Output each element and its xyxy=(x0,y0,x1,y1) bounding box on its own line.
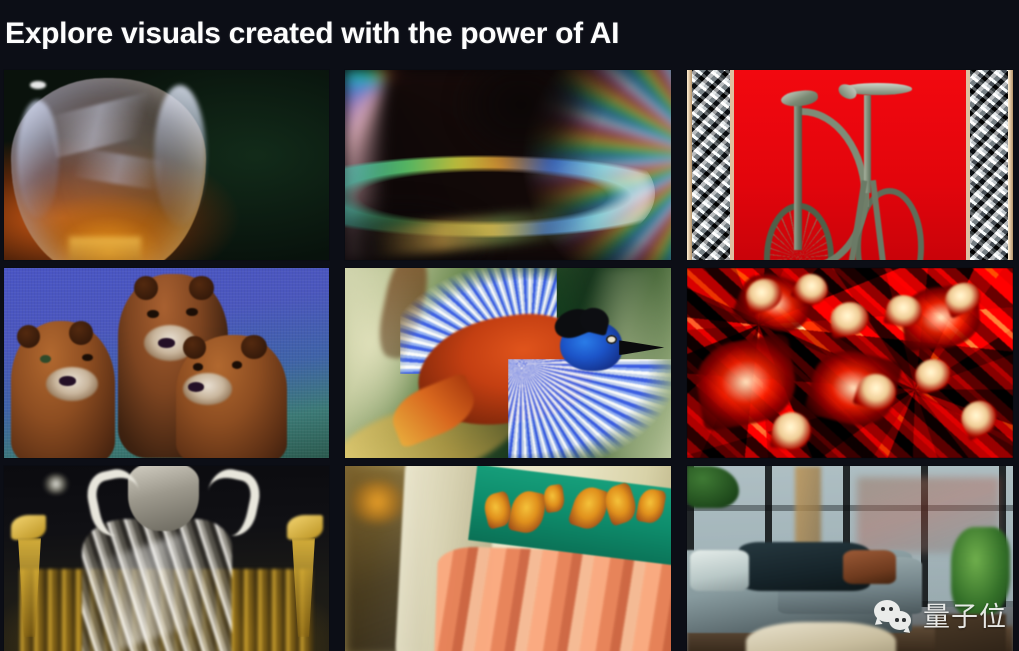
gallery-tile-exotic-bird-fanned-wings[interactable]: Tropical bird with rust-orange body, blu… xyxy=(345,268,671,458)
bear-right-eye-right xyxy=(232,361,242,369)
artwork-border-right xyxy=(966,70,1013,260)
gallery-tile-iridescent-rainbow-refraction[interactable]: Abstract holographic light refraction fa… xyxy=(345,70,671,260)
carpet-boteh-8 xyxy=(769,410,813,453)
gallery-tile-modern-living-room[interactable]: Modern loft living room with a grey-teal… xyxy=(687,466,1013,651)
bicycle-head-tube xyxy=(864,95,871,194)
bird-wing-lower xyxy=(508,359,671,458)
room-side-table xyxy=(935,614,1007,651)
gallery-tile-vintage-bicycle-red-artwork[interactable]: Pale green vintage bicycle centered on a… xyxy=(687,70,1013,260)
gallery-tile-ornate-persian-carpet[interactable]: Close-up of an ornate red and cream Pers… xyxy=(687,268,1013,458)
bear-right-ear-left xyxy=(183,336,206,359)
bicycle-seat-post xyxy=(794,102,802,250)
room-cushion-rust xyxy=(843,550,895,584)
bear-left-eye-left xyxy=(40,355,51,363)
gallery-tile-sequined-gown-on-stage[interactable]: Mannequin in a shimmering silver sequine… xyxy=(4,466,329,651)
room-coffee-table xyxy=(746,622,896,651)
artwork-sequined-gown-on-stage xyxy=(4,466,329,651)
artwork-crystal-glass-amber-liquid xyxy=(4,70,329,260)
artwork-border-left-edge xyxy=(687,70,692,260)
room-plant-right xyxy=(951,527,1010,618)
glass-right-highlight xyxy=(154,85,206,226)
artwork-border-left xyxy=(687,70,734,260)
artwork-iridescent-rainbow-refraction xyxy=(345,70,671,260)
bear-left-eye-right xyxy=(82,354,93,362)
artwork-modern-living-room xyxy=(687,466,1013,651)
gallery-tile-traditional-costume-closeup[interactable]: Detail of traditional dress: a green emb… xyxy=(345,466,671,651)
bear-left-ear-left xyxy=(17,325,40,348)
room-cushion-light xyxy=(690,550,749,592)
bicycle-saddle xyxy=(780,89,819,109)
costume-coral-skirt xyxy=(434,545,671,651)
artwork-three-brown-bears xyxy=(4,268,329,458)
bear-center-eye-left xyxy=(147,310,159,318)
stage-lamp-right xyxy=(287,515,323,540)
carpet-boteh-3 xyxy=(828,300,871,339)
gallery-tile-three-brown-bears[interactable]: Three brown bears grouped together again… xyxy=(4,268,329,458)
page-header: Explore visuals created with the power o… xyxy=(0,0,1019,68)
bird-eye xyxy=(606,335,617,345)
stage-spotlight xyxy=(43,474,69,495)
artwork-traditional-costume-closeup xyxy=(345,466,671,651)
bear-center-eye-right xyxy=(186,308,198,316)
bear-left-nose xyxy=(59,376,75,386)
carpet-boteh-7 xyxy=(912,355,955,395)
bear-center-nose xyxy=(158,338,174,348)
bear-right-eye-left xyxy=(193,363,203,371)
bicycle-red-panel xyxy=(734,70,965,260)
stage-lamp-left xyxy=(11,515,47,540)
glass-base xyxy=(69,237,141,260)
glass-specular-highlight xyxy=(30,81,46,89)
carpet-boteh-9 xyxy=(955,395,1002,441)
page-title: Explore visuals created with the power o… xyxy=(5,17,619,51)
artwork-border-right-edge xyxy=(1008,70,1013,260)
artwork-vintage-bicycle-red-artwork xyxy=(687,70,1013,260)
artwork-ornate-persian-carpet xyxy=(687,268,1013,458)
artwork-exotic-bird-fanned-wings xyxy=(345,268,671,458)
gallery-tile-crystal-glass-amber-liquid[interactable]: Close-up of a cut crystal tumbler holdin… xyxy=(4,70,329,260)
costume-background-light-orb xyxy=(348,481,407,523)
gallery-grid: Close-up of a cut crystal tumbler holdin… xyxy=(4,70,1015,651)
bear-center-ear-right xyxy=(189,276,213,301)
bear-right-nose xyxy=(188,382,204,392)
